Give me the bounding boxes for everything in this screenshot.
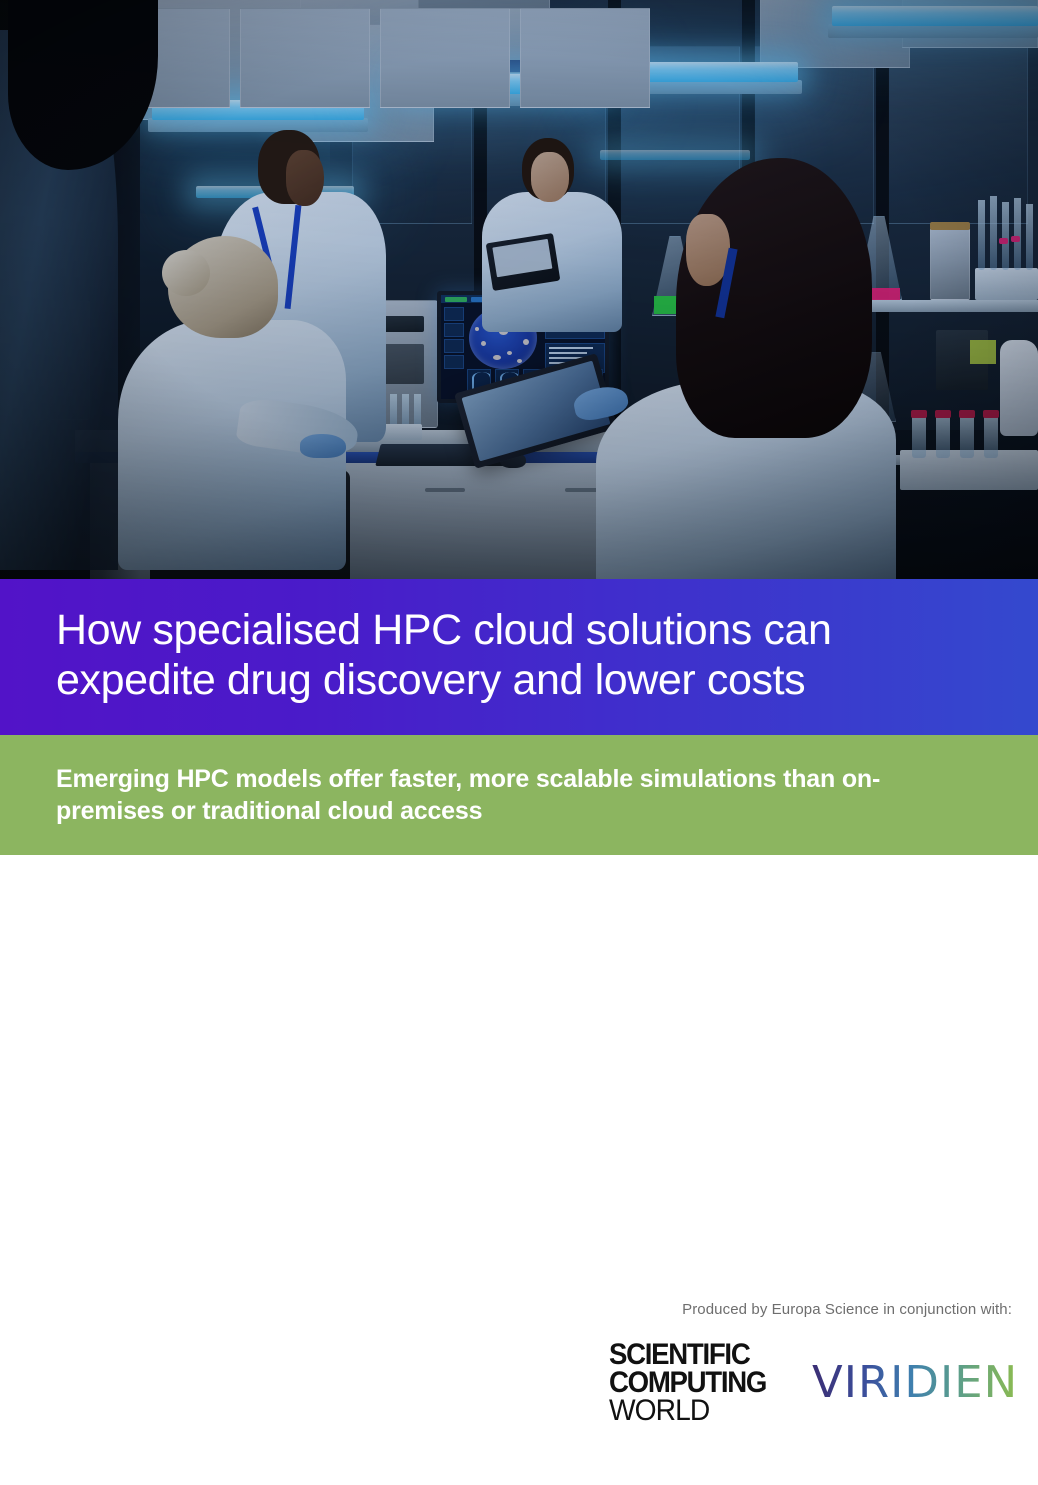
subtitle-band: Emerging HPC models offer faster, more s… bbox=[0, 735, 1038, 855]
producer-credit: Produced by Europa Science in conjunctio… bbox=[682, 1301, 1012, 1318]
hero-image bbox=[0, 0, 1038, 579]
scientific-computing-world-logo: SCIENTIFIC COMPUTING WORLD bbox=[609, 1341, 780, 1425]
page-subtitle: Emerging HPC models offer faster, more s… bbox=[0, 763, 1038, 828]
footer: Produced by Europa Science in conjunctio… bbox=[0, 1285, 1038, 1485]
title-band: How specialised HPC cloud solutions can … bbox=[0, 579, 1038, 735]
viridien-logo: VIRIDIEN bbox=[812, 1357, 1018, 1408]
page-title: How specialised HPC cloud solutions can … bbox=[0, 606, 1038, 706]
scw-logo-line3: WORLD bbox=[609, 1397, 769, 1425]
vignette-overlay bbox=[0, 0, 1038, 579]
logo-row: SCIENTIFIC COMPUTING WORLD VIRIDIEN bbox=[609, 1341, 1016, 1425]
scw-logo-line1: SCIENTIFIC bbox=[609, 1341, 766, 1369]
scw-logo-line2: COMPUTING bbox=[609, 1369, 766, 1397]
